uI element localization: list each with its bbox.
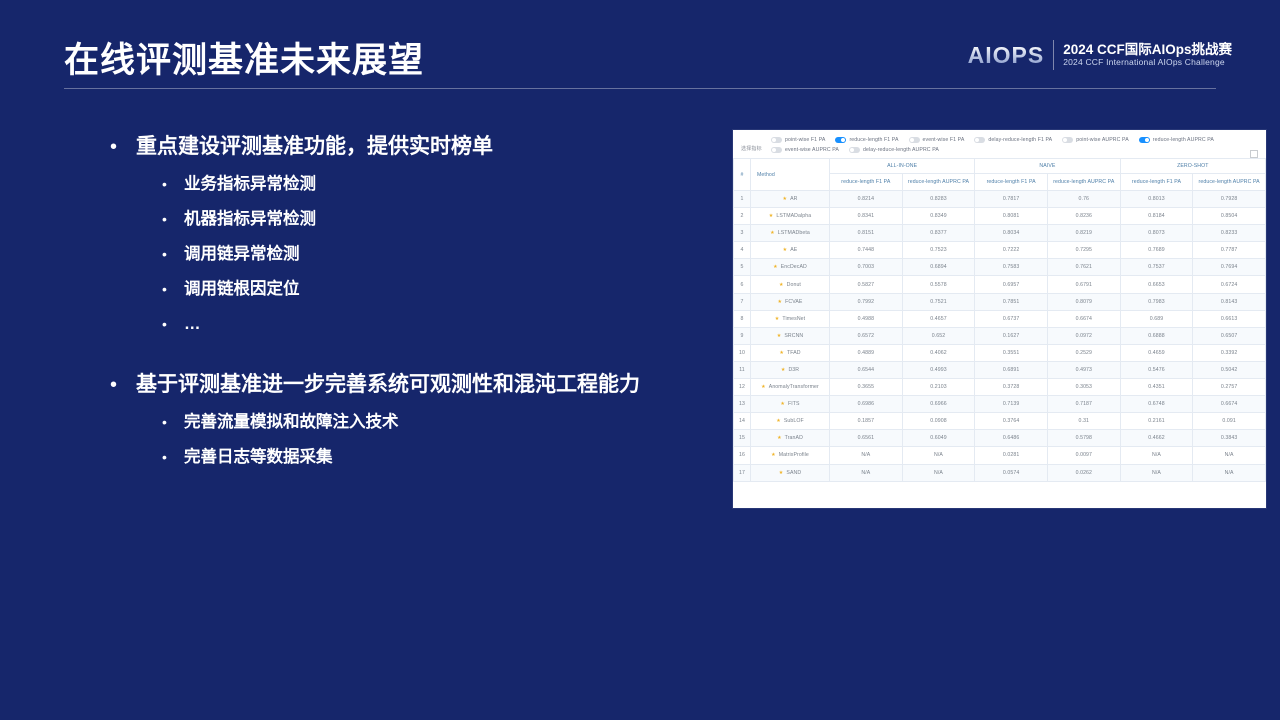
toggle-switch-icon[interactable] bbox=[835, 137, 846, 143]
star-icon[interactable]: ★ bbox=[779, 350, 784, 356]
star-icon[interactable]: ★ bbox=[779, 282, 784, 288]
cell-metric-3: 0.8236 bbox=[1047, 208, 1120, 225]
table-row[interactable]: 7★FCVAE0.79920.75210.78510.80790.79830.8… bbox=[734, 293, 1266, 310]
cell-metric-5: N/A bbox=[1193, 464, 1266, 481]
cell-index: 4 bbox=[734, 242, 751, 259]
metric-toggle-3[interactable]: delay-reduce-length F1 PA bbox=[974, 137, 1052, 143]
bullet-list: • 重点建设评测基准功能，提供实时榜单 • 业务指标异常检测 • 机器指标异常检… bbox=[110, 132, 750, 479]
star-icon[interactable]: ★ bbox=[761, 384, 766, 390]
cell-metric-1: 0.4993 bbox=[902, 361, 975, 378]
brand-separator bbox=[1053, 40, 1054, 70]
bullet-marker: • bbox=[162, 276, 184, 302]
subcol-f1-all-in-one[interactable]: reduce-length F1 PA bbox=[830, 174, 903, 191]
cell-metric-2: 0.0281 bbox=[975, 447, 1048, 464]
cell-index: 1 bbox=[734, 191, 751, 208]
cell-metric-4: 0.5476 bbox=[1120, 361, 1193, 378]
cell-metric-2: 0.6737 bbox=[975, 310, 1048, 327]
subcol-f1-zero-shot[interactable]: reduce-length F1 PA bbox=[1120, 174, 1193, 191]
cell-metric-4: 0.4662 bbox=[1120, 430, 1193, 447]
cell-metric-0: 0.6572 bbox=[830, 327, 903, 344]
cell-metric-5: 0.8143 bbox=[1193, 293, 1266, 310]
cell-method[interactable]: ★LSTMADbeta bbox=[751, 225, 830, 242]
cell-metric-5: 0.3843 bbox=[1193, 430, 1266, 447]
bullet-marker: • bbox=[162, 241, 184, 267]
table-head-group-row: # Method ALL-IN-ONE NAIVE ZERO-SHOT bbox=[734, 159, 1266, 174]
toggle-switch-icon[interactable] bbox=[1139, 137, 1150, 143]
cell-metric-2: 0.8081 bbox=[975, 208, 1048, 225]
cell-index: 8 bbox=[734, 310, 751, 327]
cell-method[interactable]: ★TFAD bbox=[751, 344, 830, 361]
cell-metric-0: 0.4988 bbox=[830, 310, 903, 327]
bullet-marker: • bbox=[162, 444, 184, 470]
cell-metric-3: 0.5798 bbox=[1047, 430, 1120, 447]
title-divider bbox=[64, 88, 1216, 89]
star-icon[interactable]: ★ bbox=[769, 213, 774, 219]
subcol-auprc-zero-shot[interactable]: reduce-length AUPRC PA bbox=[1193, 174, 1266, 191]
star-icon[interactable]: ★ bbox=[777, 299, 782, 305]
metric-filter-bar: 选择指标 point-wise F1 PAreduce-length F1 PA… bbox=[733, 130, 1266, 158]
bullet-item: • 完善日志等数据采集 bbox=[162, 444, 750, 470]
cell-metric-3: 0.4973 bbox=[1047, 361, 1120, 378]
cell-method[interactable]: ★FCVAE bbox=[751, 293, 830, 310]
cell-metric-5: 0.7928 bbox=[1193, 191, 1266, 208]
cell-metric-2: 0.3551 bbox=[975, 344, 1048, 361]
col-index-header[interactable]: # bbox=[734, 159, 751, 191]
cell-metric-0: 0.7003 bbox=[830, 259, 903, 276]
aiops-wordmark: AIOPS bbox=[968, 42, 1045, 69]
table-row[interactable]: 10★TFAD0.48890.40620.35510.25290.46590.3… bbox=[734, 344, 1266, 361]
bullet-l2-text: 机器指标异常检测 bbox=[184, 206, 316, 232]
cell-index: 15 bbox=[734, 430, 751, 447]
table-row[interactable]: 5★EncDecAD0.70030.68940.75830.76210.7537… bbox=[734, 259, 1266, 276]
cell-method[interactable]: ★FITS bbox=[751, 396, 830, 413]
brand-logo: AIOPS 2024 CCF国际AIOps挑战赛 2024 CCF Intern… bbox=[968, 40, 1232, 70]
cell-metric-3: 0.0262 bbox=[1047, 464, 1120, 481]
cell-metric-4: 0.8073 bbox=[1120, 225, 1193, 242]
cell-metric-3: 0.0097 bbox=[1047, 447, 1120, 464]
table-row[interactable]: 9★SRCNN0.65720.6520.16270.09720.68880.65… bbox=[734, 327, 1266, 344]
cell-metric-0: N/A bbox=[830, 447, 903, 464]
metric-toggle-0[interactable]: point-wise F1 PA bbox=[771, 137, 825, 143]
table-body: 1★AR0.82140.82830.78170.760.80130.79282★… bbox=[734, 191, 1266, 482]
cell-metric-5: 0.6724 bbox=[1193, 276, 1266, 293]
cell-metric-5: 0.7787 bbox=[1193, 242, 1266, 259]
bullet-item: • 调用链根因定位 bbox=[162, 276, 750, 302]
cell-metric-3: 0.31 bbox=[1047, 413, 1120, 430]
col-method-header[interactable]: Method bbox=[751, 159, 830, 191]
star-icon[interactable]: ★ bbox=[783, 247, 788, 253]
cell-metric-3: 0.8079 bbox=[1047, 293, 1120, 310]
cell-method[interactable]: ★TimesNet bbox=[751, 310, 830, 327]
cell-method[interactable]: ★SAND bbox=[751, 464, 830, 481]
star-icon[interactable]: ★ bbox=[773, 264, 778, 270]
table-row[interactable]: 16★MatrixProfileN/AN/A0.02810.0097N/AN/A bbox=[734, 447, 1266, 464]
metric-toggle-1[interactable]: reduce-length F1 PA bbox=[835, 137, 898, 143]
cell-metric-4: 0.6888 bbox=[1120, 327, 1193, 344]
cell-metric-5: 0.6507 bbox=[1193, 327, 1266, 344]
page-title: 在线评测基准未来展望 bbox=[64, 32, 424, 83]
table-row[interactable]: 6★Donut0.58270.55780.69570.67910.66530.6… bbox=[734, 276, 1266, 293]
cell-method[interactable]: ★MatrixProfile bbox=[751, 447, 830, 464]
metric-toggle-label: reduce-length F1 PA bbox=[849, 137, 898, 143]
fullscreen-icon[interactable] bbox=[1250, 150, 1258, 158]
metric-toggle-label: point-wise AUPRC PA bbox=[1076, 137, 1129, 143]
cell-method[interactable]: ★AR bbox=[751, 191, 830, 208]
cell-metric-2: 0.7583 bbox=[975, 259, 1048, 276]
leaderboard-screenshot-panel: 选择指标 point-wise F1 PAreduce-length F1 PA… bbox=[733, 130, 1266, 508]
cell-metric-4: N/A bbox=[1120, 464, 1193, 481]
cell-metric-0: 0.7448 bbox=[830, 242, 903, 259]
cell-metric-4: 0.6748 bbox=[1120, 396, 1193, 413]
metric-toggle-label: reduce-length AUPRC PA bbox=[1153, 137, 1214, 143]
star-icon[interactable]: ★ bbox=[777, 333, 782, 339]
brand-title-en: 2024 CCF International AIOps Challenge bbox=[1063, 58, 1232, 68]
cell-metric-1: 0.652 bbox=[902, 327, 975, 344]
table-row[interactable]: 4★AE0.74480.75230.72220.72950.76890.7787 bbox=[734, 242, 1266, 259]
cell-method[interactable]: ★SubLOF bbox=[751, 413, 830, 430]
cell-metric-2: 0.3728 bbox=[975, 379, 1048, 396]
subcol-auprc-all-in-one[interactable]: reduce-length AUPRC PA bbox=[902, 174, 975, 191]
cell-metric-5: 0.3392 bbox=[1193, 344, 1266, 361]
cell-metric-3: 0.2529 bbox=[1047, 344, 1120, 361]
metric-toggle-label: point-wise F1 PA bbox=[785, 137, 825, 143]
star-icon[interactable]: ★ bbox=[777, 435, 782, 441]
cell-metric-2: 0.6891 bbox=[975, 361, 1048, 378]
cell-metric-0: 0.5827 bbox=[830, 276, 903, 293]
cell-metric-1: 0.2103 bbox=[902, 379, 975, 396]
toggle-switch-icon[interactable] bbox=[909, 137, 920, 143]
metric-toggle-label: event-wise AUPRC PA bbox=[785, 147, 839, 153]
cell-metric-0: 0.8151 bbox=[830, 225, 903, 242]
cell-index: 11 bbox=[734, 361, 751, 378]
metric-toggle-label: delay-reduce-length F1 PA bbox=[988, 137, 1052, 143]
cell-metric-4: 0.4351 bbox=[1120, 379, 1193, 396]
cell-metric-3: 0.7621 bbox=[1047, 259, 1120, 276]
bullet-l2-text: 完善流量模拟和故障注入技术 bbox=[184, 409, 399, 435]
bullet-l2-text: … bbox=[184, 311, 201, 337]
metric-toggle-list: point-wise F1 PAreduce-length F1 PAevent… bbox=[771, 137, 1226, 153]
bullet-l2-text: 调用链异常检测 bbox=[184, 241, 300, 267]
bullet-item: • 完善流量模拟和故障注入技术 bbox=[162, 409, 750, 435]
metric-toggle-2[interactable]: event-wise F1 PA bbox=[909, 137, 965, 143]
cell-metric-2: 0.7222 bbox=[975, 242, 1048, 259]
cell-index: 7 bbox=[734, 293, 751, 310]
cell-metric-2: 0.6486 bbox=[975, 430, 1048, 447]
cell-metric-4: 0.6653 bbox=[1120, 276, 1193, 293]
cell-metric-4: N/A bbox=[1120, 447, 1193, 464]
cell-metric-1: N/A bbox=[902, 464, 975, 481]
bullet-l2-text: 业务指标异常检测 bbox=[184, 171, 316, 197]
table-row[interactable]: 11★D3R0.65440.49930.68910.49730.54760.50… bbox=[734, 361, 1266, 378]
cell-metric-5: N/A bbox=[1193, 447, 1266, 464]
table-row[interactable]: 8★TimesNet0.49880.46570.67370.66740.6890… bbox=[734, 310, 1266, 327]
cell-metric-3: 0.8219 bbox=[1047, 225, 1120, 242]
slide-root: 在线评测基准未来展望 AIOPS 2024 CCF国际AIOps挑战赛 2024… bbox=[0, 0, 1280, 720]
cell-metric-2: 0.8034 bbox=[975, 225, 1048, 242]
cell-metric-4: 0.689 bbox=[1120, 310, 1193, 327]
toggle-switch-icon[interactable] bbox=[974, 137, 985, 143]
cell-metric-5: 0.5042 bbox=[1193, 361, 1266, 378]
cell-method[interactable]: ★LSTMADalpha bbox=[751, 208, 830, 225]
star-icon[interactable]: ★ bbox=[771, 452, 776, 458]
leaderboard-table: # Method ALL-IN-ONE NAIVE ZERO-SHOT redu… bbox=[733, 158, 1266, 482]
star-icon[interactable]: ★ bbox=[770, 230, 775, 236]
bullet-l2-text: 完善日志等数据采集 bbox=[184, 444, 333, 470]
cell-index: 9 bbox=[734, 327, 751, 344]
cell-index: 6 bbox=[734, 276, 751, 293]
cell-metric-3: 0.0972 bbox=[1047, 327, 1120, 344]
cell-metric-0: 0.8341 bbox=[830, 208, 903, 225]
cell-index: 13 bbox=[734, 396, 751, 413]
cell-metric-1: 0.7521 bbox=[902, 293, 975, 310]
cell-metric-2: 0.7817 bbox=[975, 191, 1048, 208]
cell-metric-4: 0.7689 bbox=[1120, 242, 1193, 259]
subcol-auprc-naive[interactable]: reduce-length AUPRC PA bbox=[1047, 174, 1120, 191]
cell-method[interactable]: ★D3R bbox=[751, 361, 830, 378]
table-head: # Method ALL-IN-ONE NAIVE ZERO-SHOT redu… bbox=[734, 159, 1266, 191]
star-icon[interactable]: ★ bbox=[780, 401, 785, 407]
cell-method[interactable]: ★AnomalyTransformer bbox=[751, 379, 830, 396]
table-row[interactable]: 3★LSTMADbeta0.81510.83770.80340.82190.80… bbox=[734, 225, 1266, 242]
subcol-f1-naive[interactable]: reduce-length F1 PA bbox=[975, 174, 1048, 191]
cell-metric-1: 0.6966 bbox=[902, 396, 975, 413]
cell-index: 17 bbox=[734, 464, 751, 481]
star-icon[interactable]: ★ bbox=[783, 196, 788, 202]
toggle-switch-icon[interactable] bbox=[771, 147, 782, 153]
table-row[interactable]: 12★AnomalyTransformer0.36550.21030.37280… bbox=[734, 379, 1266, 396]
bullet-marker: • bbox=[162, 171, 184, 197]
toggle-switch-icon[interactable] bbox=[849, 147, 860, 153]
bullet-item: • 调用链异常检测 bbox=[162, 241, 750, 267]
cell-metric-4: 0.7983 bbox=[1120, 293, 1193, 310]
star-icon[interactable]: ★ bbox=[776, 418, 781, 424]
cell-metric-1: 0.6049 bbox=[902, 430, 975, 447]
cell-method[interactable]: ★AE bbox=[751, 242, 830, 259]
metric-toggle-label: delay-reduce-length AUPRC PA bbox=[863, 147, 939, 153]
table-row[interactable]: 13★FITS0.69860.69660.71390.71870.67480.6… bbox=[734, 396, 1266, 413]
cell-metric-1: 0.8283 bbox=[902, 191, 975, 208]
star-icon[interactable]: ★ bbox=[775, 316, 780, 322]
star-icon[interactable]: ★ bbox=[781, 367, 786, 373]
cell-metric-5: 0.8504 bbox=[1193, 208, 1266, 225]
bullet-marker: • bbox=[110, 132, 136, 162]
cell-metric-3: 0.6791 bbox=[1047, 276, 1120, 293]
cell-metric-3: 0.7187 bbox=[1047, 396, 1120, 413]
bullet-item: • 业务指标异常检测 bbox=[162, 171, 750, 197]
cell-metric-1: 0.8349 bbox=[902, 208, 975, 225]
table-row[interactable]: 15★TranAD0.65610.60490.64860.57980.46620… bbox=[734, 430, 1266, 447]
cell-metric-1: 0.0908 bbox=[902, 413, 975, 430]
section-spacer bbox=[110, 346, 750, 370]
cell-index: 3 bbox=[734, 225, 751, 242]
cell-metric-4: 0.8013 bbox=[1120, 191, 1193, 208]
cell-metric-4: 0.2161 bbox=[1120, 413, 1193, 430]
cell-metric-5: 0.091 bbox=[1193, 413, 1266, 430]
cell-metric-3: 0.3053 bbox=[1047, 379, 1120, 396]
cell-method[interactable]: ★Donut bbox=[751, 276, 830, 293]
bullet-l1-text: 重点建设评测基准功能，提供实时榜单 bbox=[136, 132, 493, 162]
cell-metric-3: 0.6674 bbox=[1047, 310, 1120, 327]
metric-toggle-5[interactable]: reduce-length AUPRC PA bbox=[1139, 137, 1214, 143]
metric-toggle-4[interactable]: point-wise AUPRC PA bbox=[1062, 137, 1129, 143]
metric-toggle-7[interactable]: delay-reduce-length AUPRC PA bbox=[849, 147, 939, 153]
cell-method[interactable]: ★TranAD bbox=[751, 430, 830, 447]
cell-metric-1: 0.4657 bbox=[902, 310, 975, 327]
filter-bar-label: 选择指标 bbox=[741, 137, 771, 152]
cell-metric-5: 0.6674 bbox=[1193, 396, 1266, 413]
cell-metric-0: 0.8214 bbox=[830, 191, 903, 208]
bullet-l2-text: 调用链根因定位 bbox=[184, 276, 300, 302]
cell-metric-3: 0.7295 bbox=[1047, 242, 1120, 259]
table-row[interactable]: 1★AR0.82140.82830.78170.760.80130.7928 bbox=[734, 191, 1266, 208]
bullet-marker: • bbox=[162, 409, 184, 435]
cell-index: 12 bbox=[734, 379, 751, 396]
cell-method[interactable]: ★SRCNN bbox=[751, 327, 830, 344]
cell-index: 14 bbox=[734, 413, 751, 430]
cell-metric-2: 0.1627 bbox=[975, 327, 1048, 344]
cell-metric-1: 0.8377 bbox=[902, 225, 975, 242]
col-group-header-zero-shot: ZERO-SHOT bbox=[1120, 159, 1265, 174]
cell-index: 2 bbox=[734, 208, 751, 225]
col-group-header-naive: NAIVE bbox=[975, 159, 1120, 174]
cell-metric-2: 0.7851 bbox=[975, 293, 1048, 310]
cell-metric-1: N/A bbox=[902, 447, 975, 464]
cell-metric-0: 0.3655 bbox=[830, 379, 903, 396]
cell-method[interactable]: ★EncDecAD bbox=[751, 259, 830, 276]
table-row[interactable]: 17★SANDN/AN/A0.05740.0262N/AN/A bbox=[734, 464, 1266, 481]
table-row[interactable]: 14★SubLOF0.18570.09080.37640.310.21610.0… bbox=[734, 413, 1266, 430]
bullet-group-1-heading: • 重点建设评测基准功能，提供实时榜单 bbox=[110, 132, 750, 162]
cell-metric-3: 0.76 bbox=[1047, 191, 1120, 208]
metric-toggle-6[interactable]: event-wise AUPRC PA bbox=[771, 147, 839, 153]
cell-metric-2: 0.0574 bbox=[975, 464, 1048, 481]
cell-metric-1: 0.7523 bbox=[902, 242, 975, 259]
cell-metric-1: 0.4062 bbox=[902, 344, 975, 361]
bullet-group-2-heading: • 基于评测基准进一步完善系统可观测性和混沌工程能力 bbox=[110, 370, 750, 400]
brand-title-cn: 2024 CCF国际AIOps挑战赛 bbox=[1063, 42, 1232, 58]
bullet-marker: • bbox=[110, 370, 136, 400]
bullet-marker: • bbox=[162, 206, 184, 232]
cell-metric-1: 0.5578 bbox=[902, 276, 975, 293]
cell-metric-5: 0.2757 bbox=[1193, 379, 1266, 396]
cell-metric-4: 0.4659 bbox=[1120, 344, 1193, 361]
cell-metric-2: 0.6957 bbox=[975, 276, 1048, 293]
toggle-switch-icon[interactable] bbox=[1062, 137, 1073, 143]
cell-metric-5: 0.8233 bbox=[1193, 225, 1266, 242]
cell-metric-5: 0.6613 bbox=[1193, 310, 1266, 327]
cell-metric-2: 0.3764 bbox=[975, 413, 1048, 430]
toggle-switch-icon[interactable] bbox=[771, 137, 782, 143]
cell-metric-2: 0.7139 bbox=[975, 396, 1048, 413]
cell-metric-4: 0.7537 bbox=[1120, 259, 1193, 276]
cell-metric-0: 0.6986 bbox=[830, 396, 903, 413]
cell-metric-0: 0.4889 bbox=[830, 344, 903, 361]
table-row[interactable]: 2★LSTMADalpha0.83410.83490.80810.82360.8… bbox=[734, 208, 1266, 225]
star-icon[interactable]: ★ bbox=[779, 470, 784, 476]
cell-metric-0: 0.6544 bbox=[830, 361, 903, 378]
bullet-marker: • bbox=[162, 311, 184, 337]
cell-index: 10 bbox=[734, 344, 751, 361]
brand-titles: 2024 CCF国际AIOps挑战赛 2024 CCF Internationa… bbox=[1063, 42, 1232, 67]
bullet-item: • 机器指标异常检测 bbox=[162, 206, 750, 232]
col-group-header-all-in-one: ALL-IN-ONE bbox=[830, 159, 975, 174]
cell-metric-0: 0.1857 bbox=[830, 413, 903, 430]
cell-index: 16 bbox=[734, 447, 751, 464]
cell-metric-5: 0.7694 bbox=[1193, 259, 1266, 276]
cell-metric-1: 0.6894 bbox=[902, 259, 975, 276]
cell-metric-0: 0.7992 bbox=[830, 293, 903, 310]
bullet-l1-text: 基于评测基准进一步完善系统可观测性和混沌工程能力 bbox=[136, 370, 640, 400]
cell-index: 5 bbox=[734, 259, 751, 276]
metric-toggle-label: event-wise F1 PA bbox=[923, 137, 965, 143]
bullet-item: • … bbox=[162, 311, 750, 337]
cell-metric-0: 0.6561 bbox=[830, 430, 903, 447]
cell-metric-0: N/A bbox=[830, 464, 903, 481]
cell-metric-4: 0.8184 bbox=[1120, 208, 1193, 225]
